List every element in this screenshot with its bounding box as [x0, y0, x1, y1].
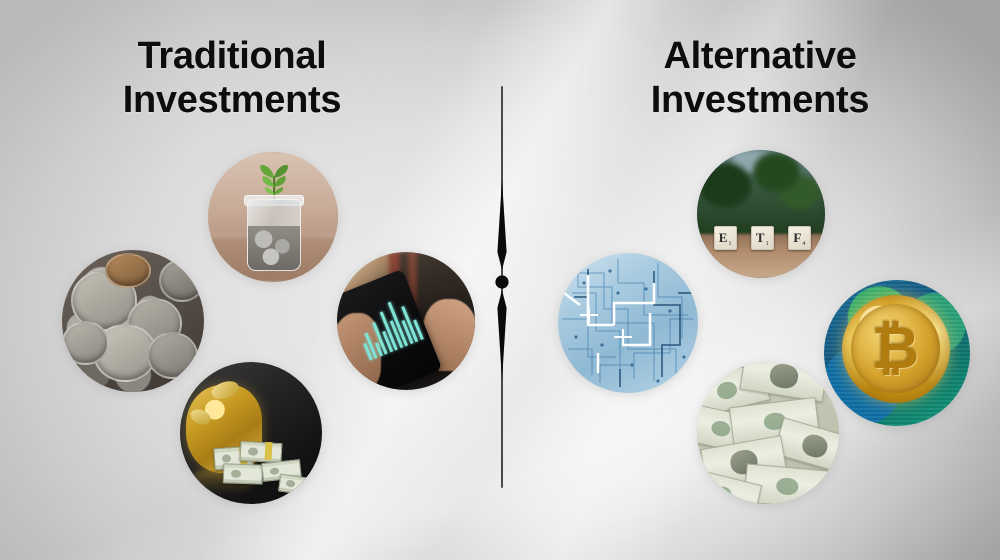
cash-stack [239, 440, 282, 463]
scrabble-tile-t: T1 [751, 226, 774, 250]
image-bitcoin-coin: ₿ [824, 280, 970, 426]
alternative-investments-heading: Alternative Investments [580, 34, 940, 122]
tile-score: 1 [766, 241, 769, 247]
gold-bull-photo [180, 362, 322, 504]
coin-shape [159, 259, 204, 303]
image-dollar-bills [697, 362, 839, 504]
stock-trading-photo [337, 252, 475, 390]
image-stock-trading-phone [337, 252, 475, 390]
cash-band [265, 441, 273, 460]
tile-score: 1 [728, 241, 731, 247]
tile-score: 4 [802, 241, 805, 247]
cash-stack [278, 473, 316, 495]
tile-letter: T [756, 230, 765, 246]
etf-tiles-photo: E1 T1 F4 [697, 150, 825, 278]
jar-coin-fill [248, 226, 300, 270]
tile-letter: E [719, 230, 728, 246]
diamond-ornament-icon [488, 180, 516, 380]
traditional-investments-heading: Traditional Investments [52, 34, 412, 122]
bitcoin-photo: ₿ [824, 280, 970, 426]
bitcoin-symbol-icon: ₿ [872, 320, 919, 378]
cash-stack [222, 464, 263, 486]
dollar-bills-photo [697, 362, 839, 504]
bitcoin-coin-shape: ₿ [842, 295, 950, 403]
image-savings-jar [208, 152, 338, 282]
investment-comparison-infographic: Traditional Investments Alternative Inve… [0, 0, 1000, 560]
coin-shape [62, 321, 109, 365]
image-etf-tiles: E1 T1 F4 [697, 150, 825, 278]
image-circuit-board [558, 253, 698, 393]
tile-letter: F [793, 230, 801, 246]
savings-jar-photo [208, 152, 338, 282]
circuit-board-photo [558, 253, 698, 393]
jar-glass-body [247, 199, 301, 271]
scrabble-tile-e: E1 [714, 226, 737, 250]
image-gold-bull-cash [180, 362, 322, 504]
scrabble-tile-f: F4 [788, 226, 811, 250]
coin-shape [105, 253, 152, 288]
circuit-traces [558, 253, 698, 393]
